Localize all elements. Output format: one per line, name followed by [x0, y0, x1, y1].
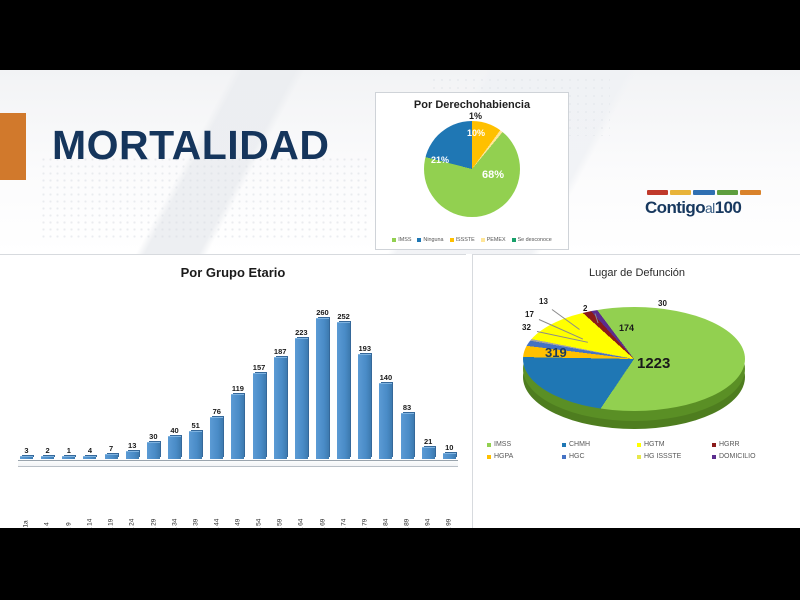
chart-title-grupo-etario: Por Grupo Etario	[0, 255, 466, 280]
x-tick-label: 45 a 49	[234, 519, 241, 528]
legend-swatch-hg-issste	[637, 455, 641, 459]
bar-value-label: 1	[67, 446, 71, 455]
x-tick: 65 a 69	[314, 510, 331, 528]
bar-item: 51	[187, 293, 204, 459]
legend-item-hgpa: HGPA	[487, 453, 562, 460]
legend-swatch-hgtm	[637, 443, 641, 447]
x-tick-label: 5 a 9	[65, 522, 72, 528]
legend-item-ninguna: Ninguna	[417, 237, 443, 243]
legend-label-hg-issste: HG ISSSTE	[644, 453, 681, 460]
legend-label-imss: IMSS	[494, 441, 511, 448]
x-tick-label: 35 a 39	[192, 519, 199, 528]
bar-value-label: 7	[109, 444, 113, 453]
bar-rect	[210, 417, 223, 459]
x-tick-label: 1 a 4	[44, 522, 51, 528]
bar-value-label: 193	[358, 344, 371, 353]
bar-item: 4	[81, 293, 98, 459]
letterbox-bottom	[0, 528, 800, 600]
bar-rect	[401, 413, 414, 459]
chart-panel-derechohabiencia: Por Derechohabiencia 10% 1% 21% 68% IMSS…	[375, 92, 569, 250]
bar-value-label: 76	[213, 407, 221, 416]
bar-rect	[337, 322, 350, 459]
legend-swatch-pemex	[481, 238, 485, 242]
bar-item: 223	[293, 293, 310, 459]
legend-swatch-imss	[392, 238, 396, 242]
pie-slice-label-pemex: 1%	[469, 111, 482, 121]
bar-rect	[231, 394, 244, 459]
x-tick-label: 85 a 89	[404, 519, 411, 528]
letterbox-top	[0, 0, 800, 70]
x-tick-label: 30 a 34	[171, 519, 178, 528]
logo-text: Contigoal100	[645, 198, 765, 218]
x-tick: 45 a 49	[229, 510, 246, 528]
bar-item: 21	[420, 293, 437, 459]
title-accent-block	[0, 113, 26, 180]
bar-value-label: 119	[232, 384, 244, 393]
x-tick-label: 80 a 84	[382, 519, 389, 528]
x-tick-label: 15 a 19	[108, 519, 115, 528]
bar-value-label: 157	[253, 363, 266, 372]
x-tick: 30 a 34	[166, 510, 183, 528]
bar-value-label: 140	[380, 373, 393, 382]
legend-label-hgrr: HGRR	[719, 441, 740, 448]
bar-rect	[295, 338, 308, 459]
pie-slice-label-hg-issste: 13	[539, 297, 548, 306]
x-tick-label: 20 a 24	[129, 519, 136, 528]
chart-title-derechohabiencia: Por Derechohabiencia	[376, 99, 568, 111]
bar-rect	[20, 456, 33, 459]
legend-item-hgtm: HGTM	[637, 441, 712, 448]
x-tick: 35 a 39	[187, 510, 204, 528]
legend-swatch-hgc	[562, 455, 566, 459]
bar-item: 193	[356, 293, 373, 459]
slide-header: MORTALIDAD Contigoal100 Por Derechohabie…	[0, 70, 800, 254]
legend-swatch-hgrr	[712, 443, 716, 447]
logo-text-main: Contigo	[645, 198, 705, 217]
bar-value-label: 2	[46, 446, 50, 455]
bar-rect	[147, 442, 160, 459]
legend-label-hgpa: HGPA	[494, 453, 513, 460]
pie-slice-label-hgpa: 32	[522, 323, 531, 332]
chart-panel-grupo-etario: Por Grupo Etario 32147133040517611915718…	[0, 254, 466, 528]
pie-slice-label-chmh: 319	[545, 345, 567, 360]
pie-slice-label-imss: 68%	[482, 169, 504, 181]
bar-rect	[379, 383, 392, 459]
bar-chart-grupo-etario: 3214713304051761191571872232602521931408…	[18, 293, 458, 481]
bar-value-label: 260	[316, 308, 329, 317]
bar-item: 187	[272, 293, 289, 459]
logo-bar-2	[670, 190, 691, 195]
pie-slice-label-domicilio: 2	[583, 304, 587, 313]
logo-bar-5	[740, 190, 761, 195]
x-tick: 5 a 9	[60, 510, 77, 528]
bar-rect	[274, 357, 287, 459]
logo-color-bars	[647, 190, 763, 195]
bar-item: 83	[399, 293, 416, 459]
bar-rect	[189, 431, 202, 459]
bar-rect	[62, 456, 75, 459]
legend-label-pemex: PEMEX	[487, 237, 506, 243]
bar-series: 3214713304051761191571872232602521931408…	[18, 293, 458, 459]
bar-value-label: 83	[403, 403, 411, 412]
x-tick-label: 90 a 94	[425, 519, 432, 528]
x-tick: 90 a 94	[420, 510, 437, 528]
x-tick: 50 a 54	[251, 510, 268, 528]
bar-rect	[126, 451, 139, 459]
bar-item: 30	[145, 293, 162, 459]
bar-value-label: 223	[295, 328, 308, 337]
pie-slice-label-hgtm: 174	[619, 323, 634, 333]
x-tick: 95 a 99	[441, 510, 458, 528]
x-tick-label: 75 a 79	[361, 519, 368, 528]
bar-rect	[422, 447, 435, 459]
legend-item-issste: ISSSTE	[450, 237, 475, 243]
bar-rect	[443, 453, 456, 459]
x-axis-tick-labels: < a 1a1 a 45 a 910 a 1415 a 1920 a 2425 …	[18, 510, 458, 528]
bar-item: 1	[60, 293, 77, 459]
pie-slice-label-ninguna: 21%	[431, 155, 449, 165]
legend-label-domicilio: DOMICILIO	[719, 453, 756, 460]
x-tick: 1 a 4	[39, 510, 56, 528]
presentation-slide: MORTALIDAD Contigoal100 Por Derechohabie…	[0, 70, 800, 528]
x-tick: 40 a 44	[208, 510, 225, 528]
x-tick: 15 a 19	[103, 510, 120, 528]
legend-lugar-defuncion: IMSS CHMH HGTM HGRR HGPA HGC HG ISSSTE D…	[487, 441, 787, 460]
chart-axis-line	[18, 460, 458, 461]
x-tick: 55 a 59	[272, 510, 289, 528]
x-tick: 25 a 29	[145, 510, 162, 528]
logo-contigo-al-100: Contigoal100	[645, 190, 765, 218]
legend-item-imss: IMSS	[487, 441, 562, 448]
legend-item-hgc: HGC	[562, 453, 637, 460]
x-tick-label: 25 a 29	[150, 519, 157, 528]
legend-item-pemex: PEMEX	[481, 237, 506, 243]
x-tick: 10 a 14	[81, 510, 98, 528]
legend-swatch-domicilio	[712, 455, 716, 459]
x-tick: 75 a 79	[356, 510, 373, 528]
x-tick-label: 10 a 14	[86, 519, 93, 528]
legend-item-hg-issste: HG ISSSTE	[637, 453, 712, 460]
bar-item: 7	[103, 293, 120, 459]
page-title: MORTALIDAD	[52, 122, 330, 169]
legend-label-issste: ISSSTE	[456, 237, 475, 243]
legend-item-hgrr: HGRR	[712, 441, 787, 448]
legend-swatch-issste	[450, 238, 454, 242]
pie-slice-label-hgrr: 30	[658, 299, 667, 308]
logo-text-number: 100	[715, 198, 742, 217]
bar-rect	[358, 354, 371, 459]
logo-text-mid: al	[705, 200, 715, 216]
bar-item: 252	[335, 293, 352, 459]
legend-derechohabiencia: IMSS Ninguna ISSSTE PEMEX Se desconoce	[376, 237, 568, 243]
x-tick-label: 70 a 74	[340, 519, 347, 528]
x-tick: 80 a 84	[377, 510, 394, 528]
bar-value-label: 40	[170, 426, 178, 435]
legend-item-se-desconoce: Se desconoce	[512, 237, 552, 243]
legend-label-hgtm: HGTM	[644, 441, 665, 448]
legend-label-se-desconoce: Se desconoce	[518, 237, 552, 243]
legend-label-hgc: HGC	[569, 453, 585, 460]
bar-value-label: 3	[24, 446, 28, 455]
x-tick-label: 60 a 64	[298, 519, 305, 528]
bar-item: 140	[377, 293, 394, 459]
legend-swatch-imss	[487, 443, 491, 447]
bar-rect	[105, 454, 118, 459]
x-tick: 60 a 64	[293, 510, 310, 528]
legend-label-chmh: CHMH	[569, 441, 590, 448]
bar-rect	[41, 456, 54, 459]
bar-rect	[168, 436, 181, 459]
x-tick-label: 50 a 54	[256, 519, 263, 528]
legend-label-imss: IMSS	[398, 237, 411, 243]
x-tick: 70 a 74	[335, 510, 352, 528]
bar-item: 3	[18, 293, 35, 459]
bar-item: 2	[39, 293, 56, 459]
bar-value-label: 30	[149, 432, 157, 441]
x-tick: 20 a 24	[124, 510, 141, 528]
x-tick-label: 40 a 44	[213, 519, 220, 528]
legend-swatch-se-desconoce	[512, 238, 516, 242]
pie-slice-label-hgc: 17	[525, 310, 534, 319]
bar-item: 13	[124, 293, 141, 459]
slide-screenshot: MORTALIDAD Contigoal100 Por Derechohabie…	[0, 0, 800, 600]
pie-slice-label-issste: 10%	[467, 128, 485, 138]
bar-value-label: 187	[274, 347, 287, 356]
chart-panel-lugar-defuncion: Lugar de Defunción 1223 319 174 30 32 17…	[472, 254, 800, 528]
bar-item: 260	[314, 293, 331, 459]
bar-item: 10	[441, 293, 458, 459]
bar-value-label: 252	[337, 312, 350, 321]
bar-rect	[316, 318, 329, 459]
logo-bar-4	[717, 190, 738, 195]
bar-value-label: 4	[88, 446, 92, 455]
bar-item: 40	[166, 293, 183, 459]
x-tick-label: 65 a 69	[319, 519, 326, 528]
bar-item: 76	[208, 293, 225, 459]
bar-value-label: 13	[128, 441, 136, 450]
bar-value-label: 21	[424, 437, 432, 446]
legend-item-imss: IMSS	[392, 237, 411, 243]
legend-item-domicilio: DOMICILIO	[712, 453, 787, 460]
bar-item: 157	[251, 293, 268, 459]
logo-bar-1	[647, 190, 668, 195]
bar-value-label: 51	[191, 421, 199, 430]
legend-swatch-hgpa	[487, 455, 491, 459]
chart-title-lugar-defuncion: Lugar de Defunción	[473, 255, 800, 279]
legend-item-chmh: CHMH	[562, 441, 637, 448]
pie-slice-label-imss: 1223	[637, 355, 670, 372]
x-tick-label: 55 a 59	[277, 519, 284, 528]
legend-swatch-ninguna	[417, 238, 421, 242]
x-tick-label: < a 1a	[23, 520, 30, 528]
legend-label-ninguna: Ninguna	[423, 237, 443, 243]
bar-rect	[253, 373, 266, 459]
bar-value-label: 10	[445, 443, 453, 452]
bar-item: 119	[229, 293, 246, 459]
x-tick-label: 95 a 99	[446, 519, 453, 528]
bar-rect	[83, 456, 96, 459]
x-tick: < a 1a	[18, 510, 35, 528]
logo-bar-3	[693, 190, 714, 195]
x-tick: 85 a 89	[399, 510, 416, 528]
legend-swatch-chmh	[562, 443, 566, 447]
pie-chart-lugar-defuncion: 1223 319 174 30 32 17 13 2	[509, 299, 759, 429]
